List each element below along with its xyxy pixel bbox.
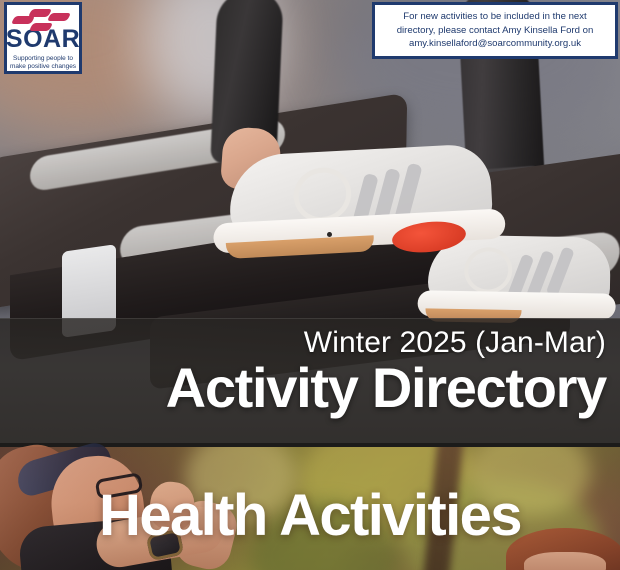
season-subtitle: Winter 2025 (Jan-Mar) [304,326,606,360]
hero-band-edge [0,318,620,319]
soar-tagline: Supporting people to make positive chang… [7,55,79,71]
contact-text: For new activities to be included in the… [397,10,594,52]
contact-line-2: directory, please contact Amy Kinsella F… [397,24,594,38]
soar-tagline-line-1: Supporting people to [7,55,79,63]
soar-tagline-line-2: make positive changes [7,63,79,71]
section-title-health-activities: Health Activities [0,487,620,545]
logo-dash-1 [11,16,35,24]
page-title: Activity Directory [166,358,606,417]
directory-cover-page: Winter 2025 (Jan-Mar) Activity Directory… [0,0,620,570]
soar-logo-mark [11,8,75,26]
soar-logo: SOAR Supporting people to make positive … [4,2,82,74]
contact-line-1: For new activities to be included in the… [397,10,594,24]
logo-dash-3 [47,13,71,21]
contact-info-box: For new activities to be included in the… [372,2,618,59]
trainer-on-step [205,142,510,268]
second-participant-face [524,552,606,570]
contact-email[interactable]: amy.kinsellaford@soarcommunity.org.uk [397,37,594,51]
step-surface-dot [327,232,332,237]
